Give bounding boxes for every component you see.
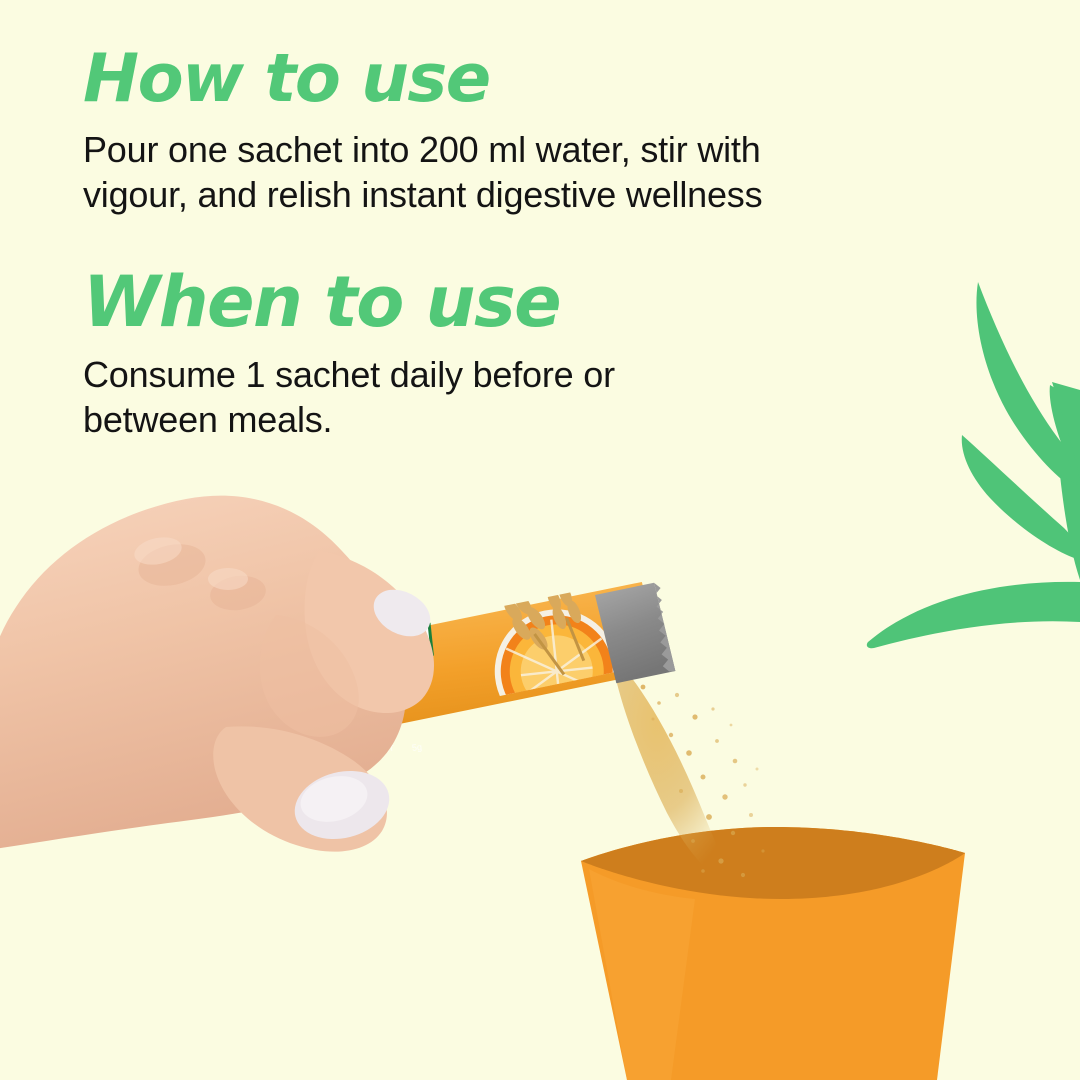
sachet-flavour: Orange Flavour [214, 732, 298, 755]
leaf-cluster-decoration [850, 250, 1080, 670]
leaf-blade-upper-right [1050, 382, 1080, 506]
leaf-blade-tall [976, 282, 1077, 490]
knuckle-highlight [132, 533, 248, 590]
body-when-to-use: Consume 1 sachet daily before or between… [83, 352, 683, 443]
leaf-blade-mid [962, 435, 1080, 560]
hand [0, 496, 438, 853]
middle-finger [260, 615, 359, 737]
sachet: LIX Isabgol Orange Burst Psyllium Husk P… [0, 554, 683, 813]
index-fingernail [366, 580, 439, 645]
orange-slice-left [6, 700, 103, 797]
powder-grains [641, 685, 765, 878]
wheat-stalks [485, 560, 617, 761]
veg-mark-icon [399, 624, 432, 657]
leaf-blade-lower [1060, 475, 1080, 580]
thumbnail [287, 761, 396, 848]
heading-when-to-use: When to use [83, 266, 873, 338]
sachet-brand-wordmark: LIX [250, 596, 363, 675]
falling-powder-stream [585, 665, 885, 895]
sachet-torn-edge [594, 581, 676, 684]
sachet-net-weight-label: NET WEIGHT [344, 744, 395, 758]
cup-body [581, 827, 965, 1080]
body-how-to-use: Pour one sachet into 200 ml water, stir … [83, 127, 843, 218]
heading-how-to-use: How to use [83, 44, 873, 113]
powder-cone [615, 669, 735, 887]
sachet-descriptor: Psyllium Husk Prebiotic Fiber [168, 707, 338, 740]
leaf-blade-horizontal [867, 582, 1080, 648]
orange-slice-right [489, 603, 625, 739]
thumbnail-shine [296, 769, 373, 828]
sachet-artwork [0, 559, 627, 812]
cup-rim-shadow [581, 827, 965, 899]
cup-illustration [575, 825, 970, 1080]
product-photo-composition: LIX Isabgol Orange Burst Psyllium Husk P… [0, 440, 1080, 1080]
infographic-canvas: How to use Pour one sachet into 200 ml w… [0, 0, 1080, 1080]
index-finger [305, 551, 434, 713]
cup-highlight [589, 869, 695, 1080]
knuckle-shading [135, 538, 269, 613]
hand-holding-sachet: LIX Isabgol Orange Burst Psyllium Husk P… [0, 455, 720, 855]
hand-back [0, 496, 406, 853]
section-when-to-use: When to use Consume 1 sachet daily befor… [83, 266, 873, 443]
sachet-product-name: Isabgol Orange Burst [57, 663, 374, 731]
copy-block: How to use Pour one sachet into 200 ml w… [83, 44, 873, 443]
section-how-to-use: How to use Pour one sachet into 200 ml w… [83, 44, 873, 218]
sachet-net-weight-value: 5g [411, 742, 422, 753]
sachet-body [23, 581, 669, 796]
thumb [213, 726, 387, 851]
sachet-category: NUTRACEUTICAL [37, 749, 112, 766]
